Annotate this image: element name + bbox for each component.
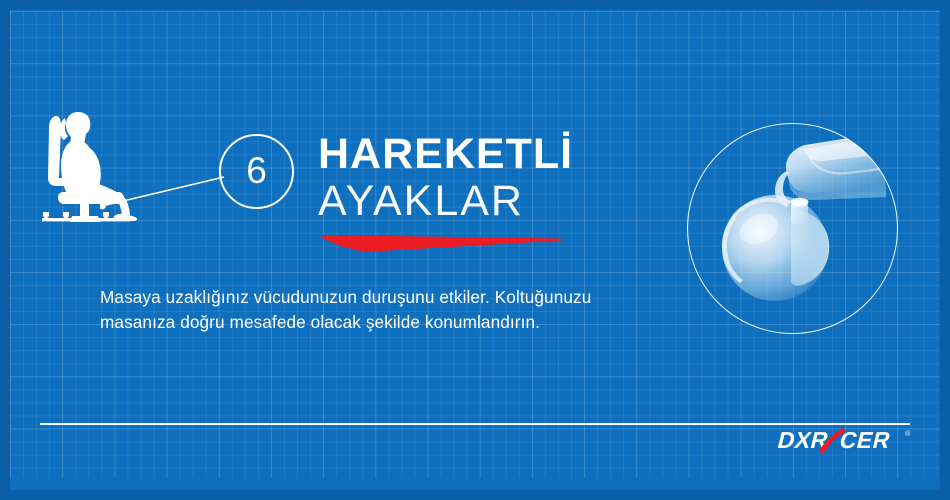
red-accent-wedge-icon <box>322 232 562 254</box>
infographic-slide: 6 HAREKETLİ AYAKLAR Masaya uzaklığınız v… <box>0 0 950 500</box>
dxracer-logo-icon: DXR CER ® <box>764 425 914 455</box>
product-image-circle <box>687 123 898 334</box>
body-copy-line-1: Masaya uzaklığınız vücudunuzun duruşunu … <box>100 285 670 310</box>
step-number-value: 6 <box>246 152 267 189</box>
body-copy-line-2: masanıza doğru mesafede olacak şekilde k… <box>100 310 670 335</box>
title-block: HAREKETLİ AYAKLAR <box>318 131 738 225</box>
page-title: HAREKETLİ <box>318 131 738 177</box>
dxracer-trademark-symbol: ® <box>905 430 911 438</box>
page-subtitle: AYAKLAR <box>318 177 738 225</box>
seated-person-chair-icon <box>34 104 154 222</box>
step-number-badge: 6 <box>219 134 294 209</box>
product-circle-frame <box>687 123 898 334</box>
body-copy: Masaya uzaklığınız vücudunuzun duruşunu … <box>100 285 670 335</box>
